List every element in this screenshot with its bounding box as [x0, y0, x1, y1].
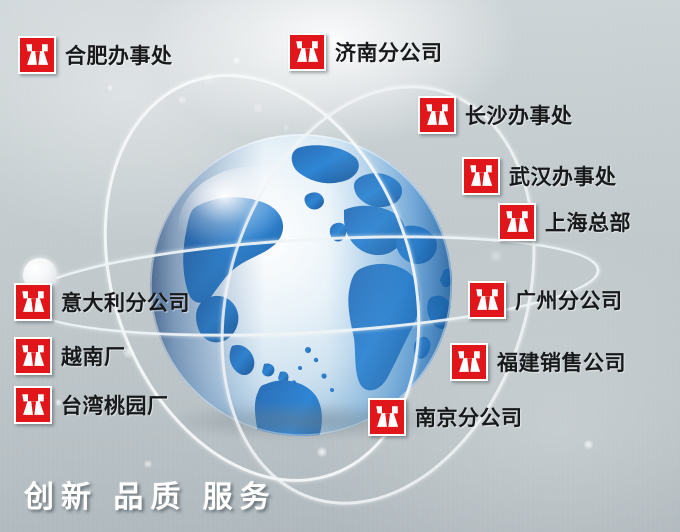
bokeh-speck	[584, 440, 593, 449]
location-label-nanjing[interactable]: 南京分公司	[368, 398, 523, 436]
bridge-h-logo-icon	[468, 281, 506, 319]
location-label-text: 济南分公司	[335, 37, 443, 67]
bridge-h-logo-icon	[498, 203, 536, 241]
bokeh-speck	[253, 103, 263, 113]
bokeh-speck	[202, 72, 215, 85]
globe-container	[148, 132, 454, 438]
bridge-h-logo-icon	[462, 157, 500, 195]
bokeh-speck	[490, 250, 502, 262]
bokeh-speck	[233, 57, 240, 64]
bokeh-speck	[144, 460, 152, 468]
bridge-h-logo-icon	[450, 343, 488, 381]
location-label-hefei[interactable]: 合肥办事处	[18, 36, 173, 74]
location-label-guangzhou[interactable]: 广州分公司	[468, 281, 623, 319]
location-label-text: 南京分公司	[415, 402, 523, 432]
location-label-italy[interactable]: 意大利分公司	[14, 283, 190, 321]
bridge-h-logo-icon	[18, 36, 56, 74]
location-label-text: 合肥办事处	[65, 40, 173, 70]
location-label-text: 台湾桃园厂	[61, 390, 169, 420]
location-label-text: 意大利分公司	[61, 287, 190, 317]
bridge-h-logo-icon	[14, 386, 52, 424]
location-label-wuhan[interactable]: 武汉办事处	[462, 157, 617, 195]
location-label-jinan[interactable]: 济南分公司	[288, 33, 443, 71]
location-label-text: 上海总部	[545, 207, 631, 237]
location-label-text: 武汉办事处	[509, 161, 617, 191]
bridge-h-logo-icon	[14, 283, 52, 321]
bokeh-speck	[107, 85, 113, 91]
location-label-vietnam[interactable]: 越南厂	[14, 337, 126, 375]
bokeh-speck	[178, 96, 186, 104]
poster-canvas: 合肥办事处 济南分公司 长沙办事处 武汉办事处	[0, 0, 680, 532]
bokeh-speck	[283, 125, 289, 131]
globe-icon	[148, 132, 454, 438]
bridge-h-logo-icon	[14, 337, 52, 375]
location-label-text: 广州分公司	[515, 285, 623, 315]
location-label-text: 长沙办事处	[465, 100, 573, 130]
location-label-changsha[interactable]: 长沙办事处	[418, 96, 573, 134]
location-label-shanghai[interactable]: 上海总部	[498, 203, 631, 241]
slogan-text: 创新 品质 服务	[24, 472, 277, 516]
location-label-taiwan[interactable]: 台湾桃园厂	[14, 386, 169, 424]
bridge-h-logo-icon	[368, 398, 406, 436]
bokeh-speck	[317, 447, 327, 457]
bridge-h-logo-icon	[418, 96, 456, 134]
location-label-fujian[interactable]: 福建销售公司	[450, 343, 626, 381]
bridge-h-logo-icon	[288, 33, 326, 71]
location-label-text: 福建销售公司	[497, 347, 626, 377]
location-label-text: 越南厂	[61, 341, 126, 371]
